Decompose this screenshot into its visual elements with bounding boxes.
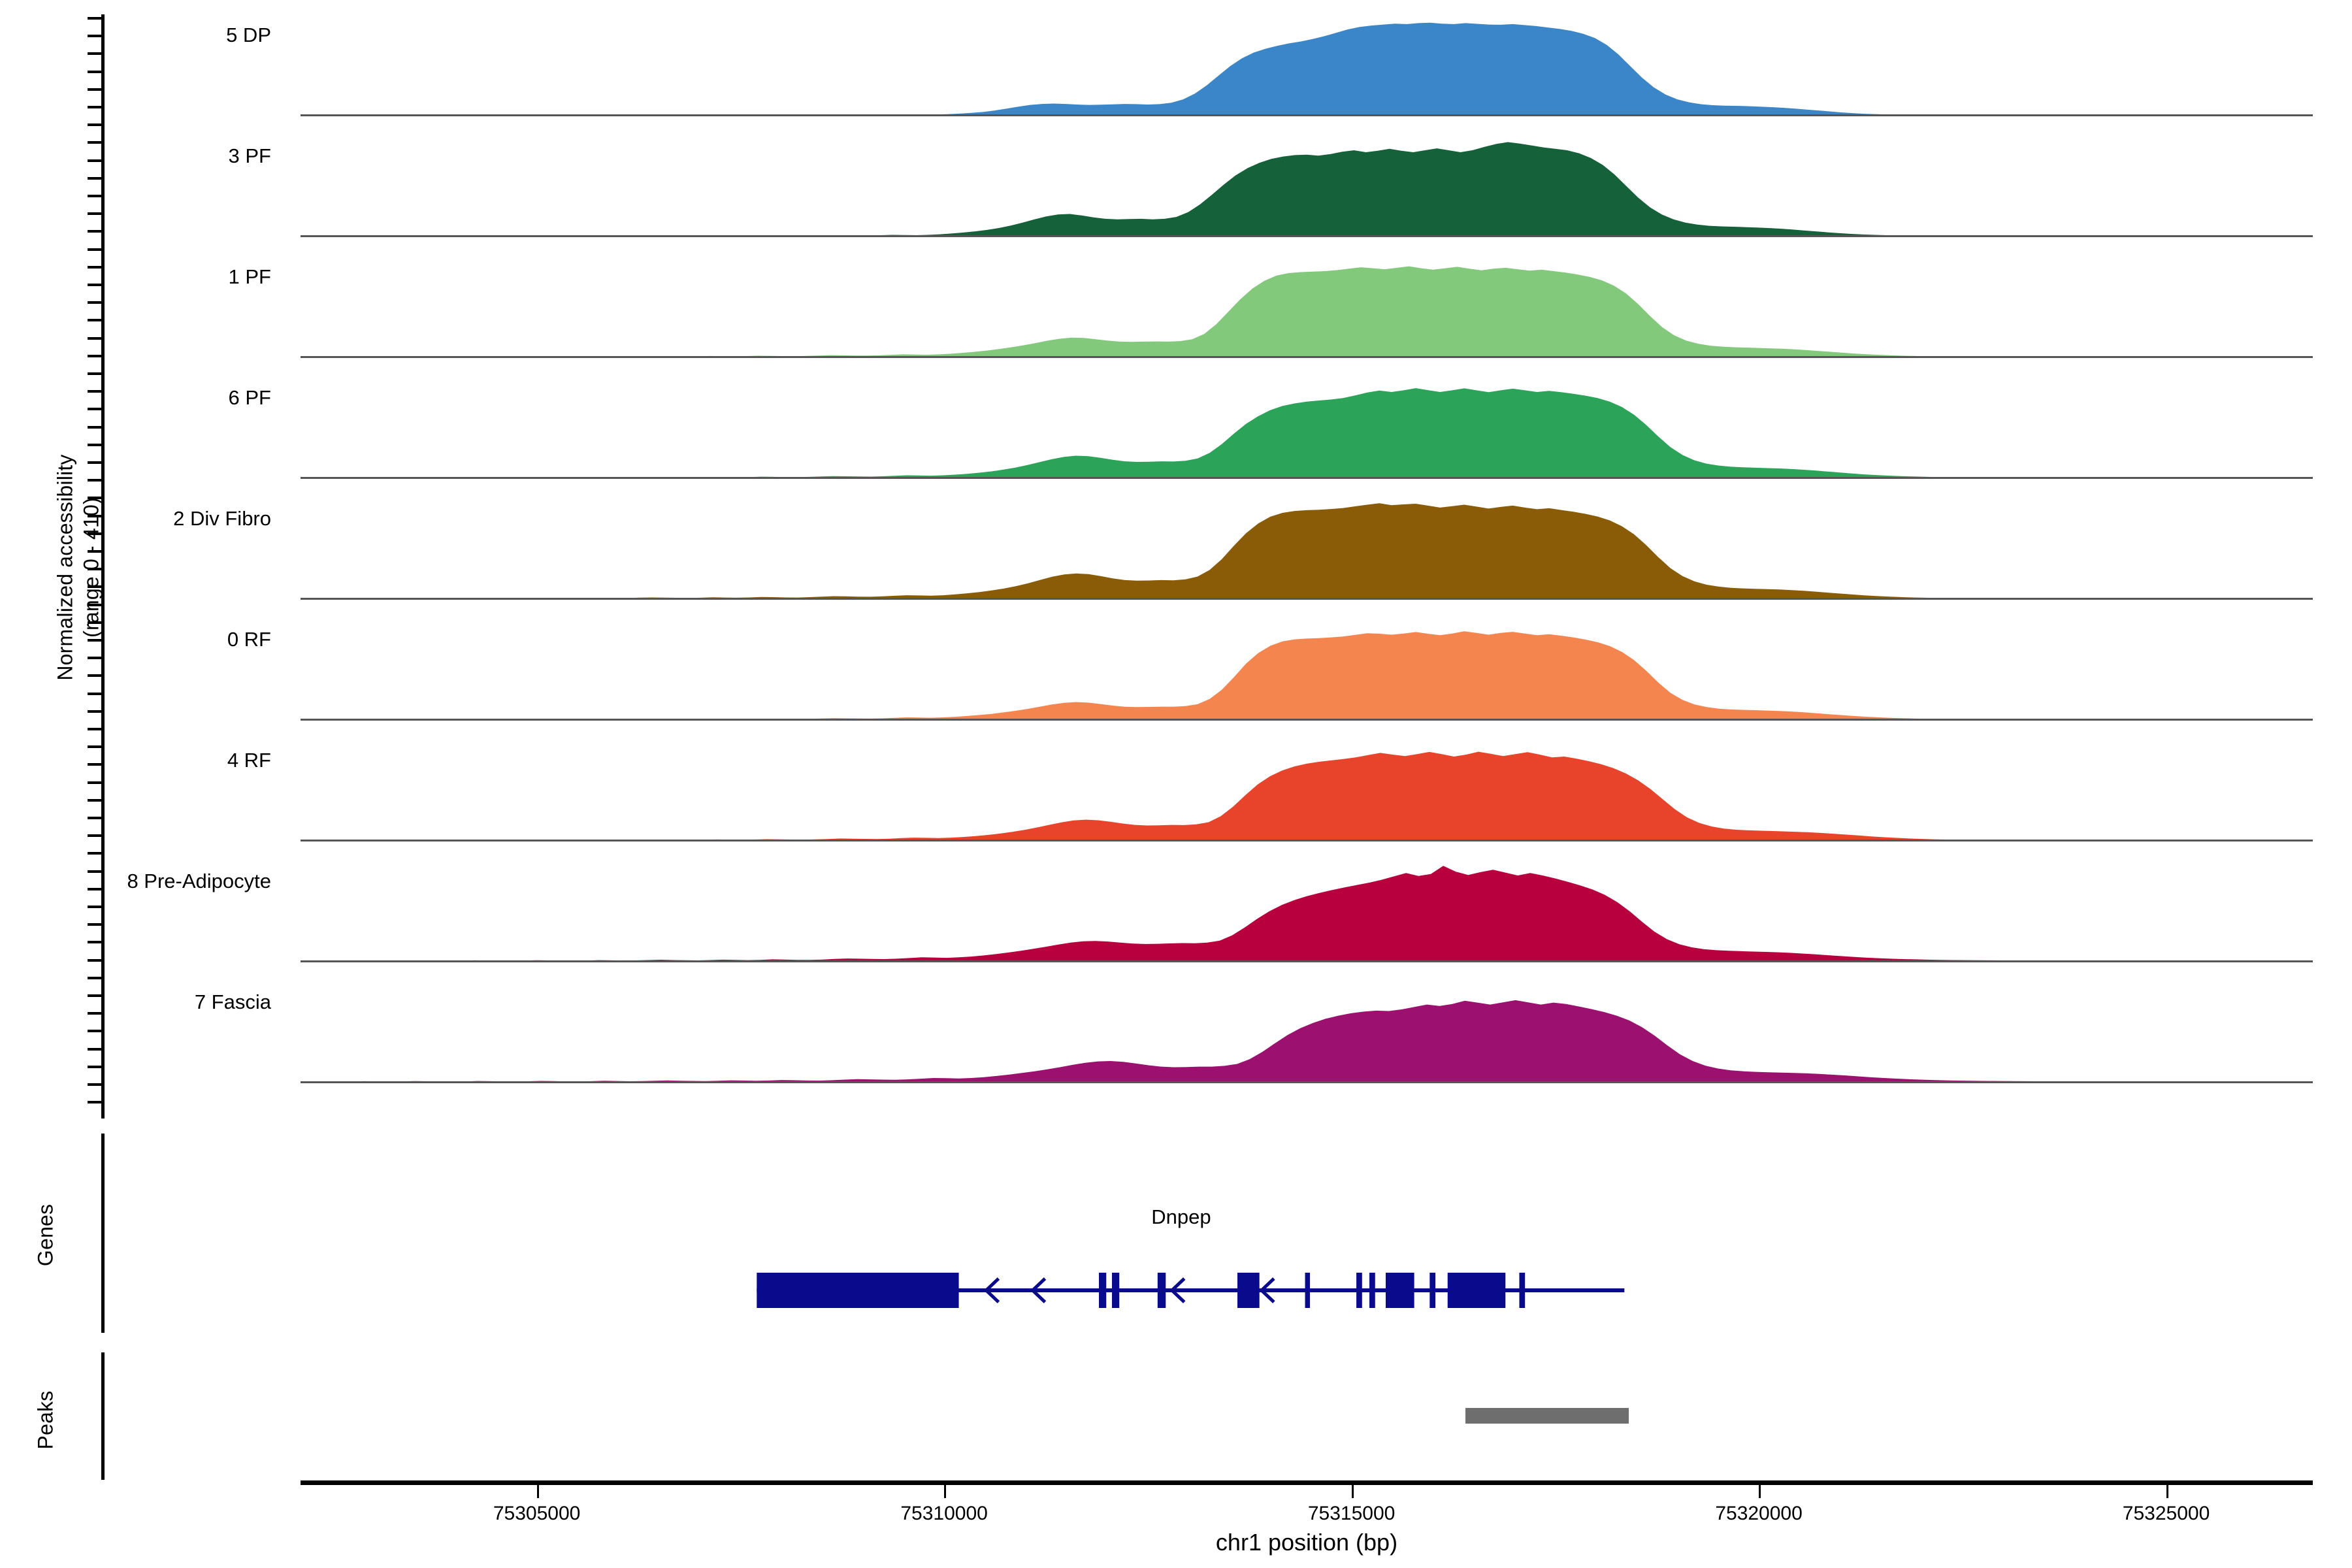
track-label: 3 PF xyxy=(229,144,271,168)
signal-track[interactable] xyxy=(301,381,2313,479)
y-axis-tick xyxy=(88,372,102,375)
signal-area xyxy=(301,139,2313,237)
gene-exon xyxy=(1158,1273,1166,1308)
y-axis-tick xyxy=(88,994,102,997)
peaks-panel-label: Peaks xyxy=(34,1335,58,1505)
gene-exon xyxy=(1099,1273,1106,1308)
track-baseline xyxy=(301,960,2313,962)
y-axis-tick xyxy=(88,319,102,321)
y-axis-tick xyxy=(88,390,102,393)
y-axis-tick xyxy=(88,745,102,748)
signal-area xyxy=(301,623,2313,721)
gene-exon xyxy=(1448,1273,1506,1308)
y-axis-tick xyxy=(88,923,102,926)
track-baseline xyxy=(301,598,2313,600)
gene-exon xyxy=(1429,1273,1435,1308)
y-axis-tick xyxy=(88,781,102,784)
gene-label: Dnpep xyxy=(1151,1205,1211,1229)
gene-exon xyxy=(1369,1273,1375,1308)
genes-panel-label: Genes xyxy=(34,1151,58,1320)
signal-area xyxy=(301,985,2313,1083)
y-axis-tick xyxy=(88,266,102,269)
y-axis-tick xyxy=(88,301,102,304)
y-axis-tick xyxy=(88,212,102,215)
track-baseline xyxy=(301,235,2313,237)
y-axis-tick xyxy=(88,906,102,908)
y-axis-tick xyxy=(88,177,102,180)
y-axis-tick xyxy=(88,88,102,91)
signal-track[interactable] xyxy=(301,985,2313,1083)
genes-track[interactable] xyxy=(301,1261,2313,1320)
signal-track[interactable] xyxy=(301,260,2313,358)
signal-area xyxy=(301,260,2313,358)
y-axis-tick xyxy=(88,870,102,873)
track-baseline xyxy=(301,1081,2313,1083)
x-axis-tick xyxy=(537,1485,539,1498)
signal-track[interactable] xyxy=(301,864,2313,962)
genome-browser-figure: Normalized accessibility (range 0 - 410)… xyxy=(0,0,2352,1568)
x-axis-title: chr1 position (bp) xyxy=(1216,1529,1397,1556)
y-axis-tick xyxy=(88,834,102,837)
y-axis-tick xyxy=(88,230,102,233)
y-axis-tick xyxy=(88,123,102,126)
gene-exon xyxy=(1356,1273,1362,1308)
x-axis: 7530500075310000753150007532000075325000 xyxy=(301,1480,2313,1533)
y-axis-tick xyxy=(88,141,102,144)
signal-track[interactable] xyxy=(301,139,2313,237)
y-axis-tick xyxy=(88,817,102,819)
y-axis-tick xyxy=(88,1083,102,1086)
y-axis-tick xyxy=(88,71,102,73)
signal-track[interactable] xyxy=(301,623,2313,721)
track-baseline xyxy=(301,114,2313,116)
y-axis-tick xyxy=(88,799,102,802)
x-axis-tick-label: 75320000 xyxy=(1715,1503,1802,1525)
track-baseline xyxy=(301,840,2313,841)
x-axis-tick xyxy=(1759,1485,1761,1498)
track-label: 0 RF xyxy=(227,628,271,651)
gene-exon xyxy=(1112,1273,1119,1308)
y-axis-tick xyxy=(88,1048,102,1051)
y-axis-tick xyxy=(88,1012,102,1015)
signal-track[interactable] xyxy=(301,502,2313,600)
x-axis-tick xyxy=(944,1485,946,1498)
y-axis-tick xyxy=(88,888,102,890)
track-label: 7 Fascia xyxy=(195,990,271,1014)
y-axis-tick xyxy=(88,159,102,162)
gene-exon xyxy=(1519,1273,1525,1308)
y-axis-tick xyxy=(88,337,102,340)
y-axis-tick xyxy=(88,1101,102,1103)
track-label: 6 PF xyxy=(229,386,271,410)
peak-bar[interactable] xyxy=(1465,1408,1628,1424)
y-axis-tick xyxy=(88,52,102,55)
genes-axis-spine xyxy=(101,1134,105,1333)
track-label: 5 DP xyxy=(226,24,271,47)
signal-track[interactable] xyxy=(301,743,2313,841)
y-axis-tick xyxy=(88,35,102,37)
track-label: 4 RF xyxy=(227,749,271,772)
y-axis-tick xyxy=(88,17,102,20)
peaks-axis-spine xyxy=(101,1352,105,1480)
signal-area xyxy=(301,864,2313,962)
x-axis-tick-label: 75315000 xyxy=(1308,1503,1395,1525)
y-axis-tick xyxy=(88,1030,102,1032)
signal-area xyxy=(301,18,2313,116)
y-axis-tick xyxy=(88,852,102,855)
track-label: 8 Pre-Adipocyte xyxy=(127,870,271,893)
y-axis-tick xyxy=(88,355,102,357)
y-axis-tick xyxy=(88,941,102,943)
x-axis-tick-label: 75325000 xyxy=(2123,1503,2210,1525)
y-axis-tick xyxy=(88,959,102,962)
track-baseline xyxy=(301,356,2313,358)
peaks-track[interactable] xyxy=(301,1352,2313,1480)
y-axis-tick xyxy=(88,977,102,979)
signal-track[interactable] xyxy=(301,18,2313,116)
y-axis-tick xyxy=(88,248,102,251)
y-axis-tick xyxy=(88,106,102,108)
track-baseline xyxy=(301,477,2313,479)
gene-exon xyxy=(1305,1273,1310,1308)
signal-area xyxy=(301,502,2313,600)
x-axis-tick-label: 75310000 xyxy=(900,1503,987,1525)
y-axis-title-line2: (range 0 - 410) xyxy=(80,404,104,731)
y-axis-tick xyxy=(88,284,102,286)
x-axis-line xyxy=(301,1480,2313,1485)
y-axis-title-line1: Normalized accessibility xyxy=(54,404,78,731)
signal-area xyxy=(301,743,2313,841)
gene-model xyxy=(301,1261,2313,1320)
x-axis-tick xyxy=(1352,1485,1354,1498)
gene-exon xyxy=(1237,1273,1260,1308)
signal-area xyxy=(301,381,2313,479)
x-axis-tick-label: 75305000 xyxy=(493,1503,580,1525)
track-label: 2 Div Fibro xyxy=(173,507,271,531)
gene-exon xyxy=(757,1273,958,1308)
y-axis-tick xyxy=(88,195,102,197)
gene-exon xyxy=(1386,1273,1414,1308)
track-label: 1 PF xyxy=(229,265,271,289)
y-axis-tick xyxy=(88,763,102,766)
y-axis-tick xyxy=(88,1066,102,1068)
track-baseline xyxy=(301,719,2313,721)
x-axis-tick xyxy=(2166,1485,2168,1498)
